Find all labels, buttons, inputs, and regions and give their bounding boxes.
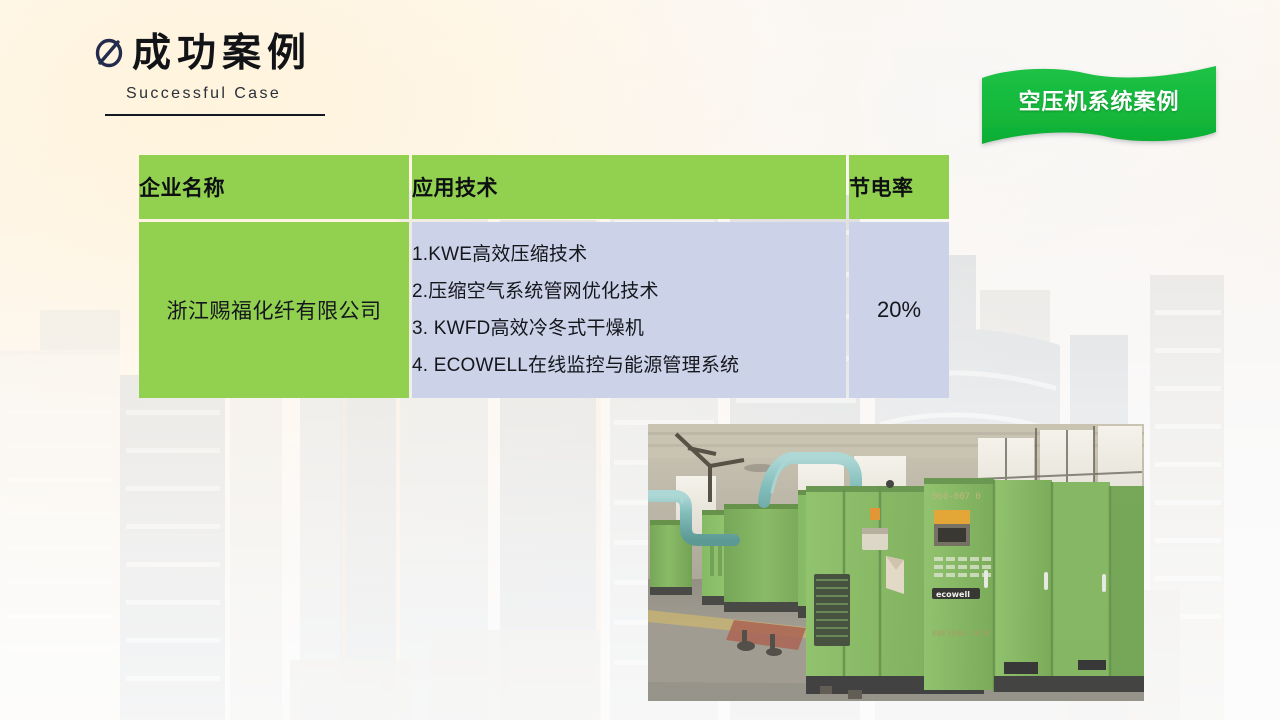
column-header-technology: 应用技术 [412, 155, 846, 219]
list-item: 3. KWFD高效冷冬式干燥机 [412, 310, 846, 347]
status-badge-label: 空压机系统案例 [978, 84, 1220, 116]
cell-saving-rate: 20% [849, 222, 949, 398]
slide-canvas: 成功案例 Successful Case 空压机系统案例 [0, 0, 1280, 720]
page-subtitle: Successful Case [126, 85, 512, 103]
list-item: 1.KWE高效压缩技术 [412, 236, 846, 273]
case-table: 企业名称 应用技术 节电率 浙江赐福化纤有限公司 1.KWE高效压缩技术 2.压… [136, 152, 952, 401]
list-item: 4. ECOWELL在线监控与能源管理系统 [412, 347, 846, 384]
oslash-icon [92, 35, 126, 69]
case-photo: 060-007 0 ecowell KWE160A-2K/ [648, 424, 1144, 701]
technology-list: 1.KWE高效压缩技术 2.压缩空气系统管网优化技术 3. KWFD高效冷冬式干… [412, 236, 846, 384]
table-header-row: 企业名称 应用技术 节电率 [139, 155, 949, 219]
page-title-block: 成功案例 Successful Case [92, 32, 512, 116]
cell-company-name: 浙江赐福化纤有限公司 [139, 222, 409, 398]
column-header-saving-rate: 节电率 [849, 155, 949, 219]
title-row: 成功案例 [92, 32, 512, 76]
list-item: 2.压缩空气系统管网优化技术 [412, 273, 846, 310]
table-header: 企业名称 应用技术 节电率 [139, 155, 949, 219]
table-body: 浙江赐福化纤有限公司 1.KWE高效压缩技术 2.压缩空气系统管网优化技术 3.… [139, 222, 949, 398]
status-badge: 空压机系统案例 [978, 62, 1220, 150]
cell-technologies: 1.KWE高效压缩技术 2.压缩空气系统管网优化技术 3. KWFD高效冷冬式干… [412, 222, 846, 398]
title-underline [105, 114, 325, 116]
page-title: 成功案例 [132, 32, 312, 76]
column-header-company: 企业名称 [139, 155, 409, 219]
table-row: 浙江赐福化纤有限公司 1.KWE高效压缩技术 2.压缩空气系统管网优化技术 3.… [139, 222, 949, 398]
